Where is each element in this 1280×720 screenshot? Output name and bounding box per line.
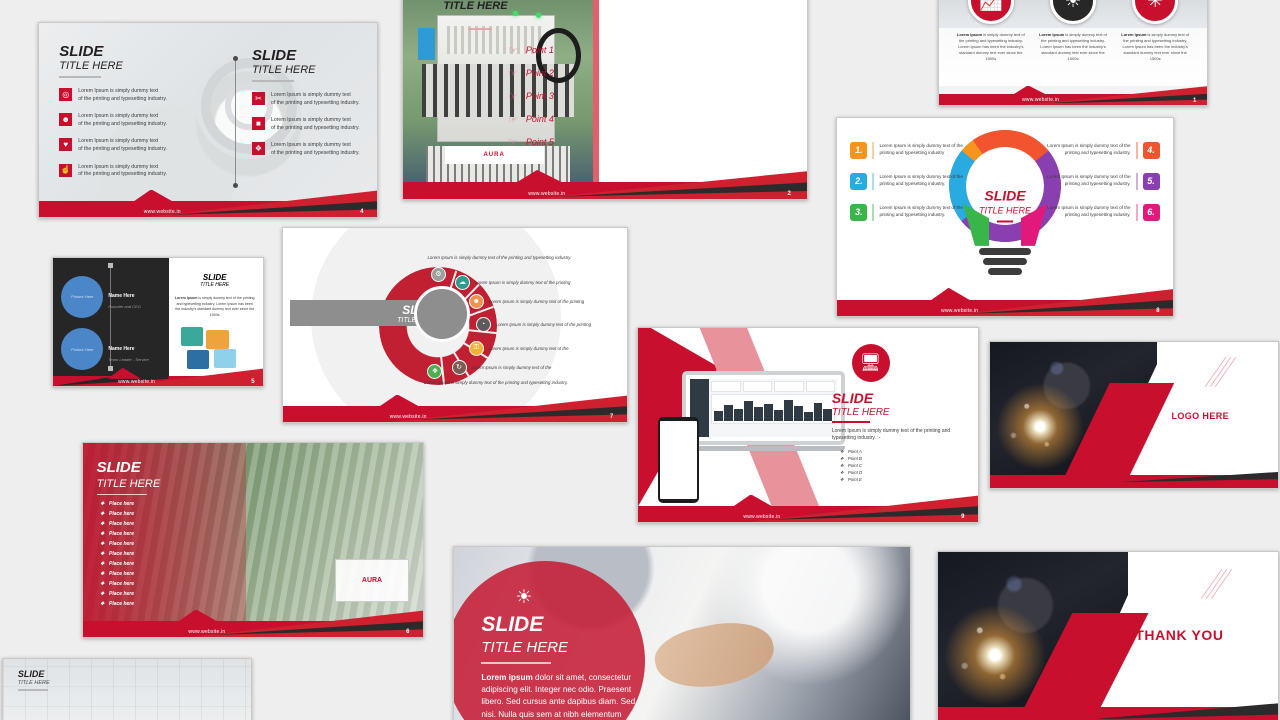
item-text: Lorem Ipsum is simply dummy text of the … bbox=[1035, 142, 1131, 157]
slide-thumbnail-4[interactable]: SLIDE TITLE HERE ◎ Lorem Ipsum is simply… bbox=[38, 22, 378, 218]
item-text: Lorem Ipsum is simply dummy text of the … bbox=[879, 173, 975, 188]
list-item[interactable]: Place here bbox=[100, 581, 134, 587]
slide5-body-text: Lorem Ipsum is simply dummy text of the … bbox=[175, 296, 255, 318]
list-item[interactable]: ☞ Point 1 bbox=[508, 44, 554, 57]
slide-thumbnail-partial[interactable]: SLIDE TITLE HERE 📈 ☀ ✳ bbox=[2, 658, 252, 720]
feature-block[interactable]: 📈 Lorem Ipsum is simply dummy text of th… bbox=[954, 0, 1028, 62]
title-rule bbox=[997, 221, 1013, 223]
list-item[interactable]: Point E bbox=[848, 477, 965, 482]
user-icon: ☻ bbox=[469, 294, 484, 309]
title-rule bbox=[468, 28, 492, 30]
title-rule bbox=[59, 76, 101, 78]
item-text: Lorem Ipsum is simply dummy text of the … bbox=[879, 204, 975, 219]
list-item-label: Point 3 bbox=[526, 91, 554, 101]
list-item-label: Point 2 bbox=[526, 68, 554, 78]
puzzle-illustration bbox=[179, 327, 255, 371]
list-item[interactable]: ☞ Point 3 bbox=[508, 90, 554, 103]
monitor-icon: 🖥 bbox=[852, 344, 890, 382]
lightbulb-icon: ☀ bbox=[515, 586, 641, 609]
share-icon: ❖ bbox=[252, 142, 265, 155]
page-title: SLIDE bbox=[175, 273, 255, 282]
page-title: SLIDE bbox=[59, 44, 208, 59]
tools-icon: ✂ bbox=[252, 92, 265, 105]
feature-block[interactable]: ☀ Lorem Ipsum is simply dummy text of th… bbox=[1036, 0, 1110, 62]
list-item[interactable]: Point A bbox=[848, 449, 965, 454]
list-item[interactable]: Place here bbox=[100, 601, 134, 607]
slide-thumbnail-thank-you[interactable]: THANK YOU bbox=[937, 551, 1279, 720]
slide2-machine-photo: AURA bbox=[403, 0, 593, 199]
numbered-item[interactable]: 5. Lorem Ipsum is simply dummy text of t… bbox=[1035, 173, 1160, 190]
radial-node-text: Lorem Ipsum is simply dummy text of the bbox=[472, 365, 552, 370]
slide-thumbnail-handshake[interactable]: ☀ SLIDE TITLE HERE Lorem ipsum dolor sit… bbox=[453, 546, 911, 720]
slide9-text-column: SLIDE TITLE HERE Lorem Ipsum is simply d… bbox=[832, 390, 965, 484]
page-title: SLIDE bbox=[18, 669, 50, 679]
page-subtitle: TITLE HERE bbox=[175, 282, 255, 288]
slide13-heading: SLIDE TITLE HERE bbox=[18, 669, 50, 691]
item-text: Lorem Ipsum is simply dummy text of the … bbox=[1035, 204, 1131, 219]
list-item[interactable]: ◎ Lorem Ipsum is simply dummy textof the… bbox=[59, 88, 208, 103]
heart-icon: ♥ bbox=[59, 138, 72, 151]
list-item-text: Lorem Ipsum is simply dummy textof the p… bbox=[271, 92, 360, 107]
hand-point-icon: ☞ bbox=[508, 136, 518, 149]
list-item[interactable]: Place here bbox=[100, 541, 134, 547]
slide-thumbnail-10[interactable]: LOGO HERE bbox=[989, 341, 1279, 489]
logo-placeholder: LOGO HERE bbox=[1171, 411, 1229, 421]
list-item-text: Lorem Ipsum is simply dummy textof the p… bbox=[271, 142, 360, 157]
item-number-badge: 4. bbox=[1143, 142, 1160, 159]
page-title: SLIDE bbox=[481, 613, 641, 637]
radial-center-hub bbox=[414, 286, 470, 342]
list-item-text: Lorem Ipsum is simply dummy textof the p… bbox=[271, 117, 360, 132]
numbered-item[interactable]: 1. Lorem Ipsum is simply dummy text of t… bbox=[850, 142, 975, 159]
list-item-label: Point 5 bbox=[526, 137, 554, 147]
radial-node[interactable]: ☁ Lorem Ipsum is simply dummy text of th… bbox=[455, 275, 570, 290]
slide-number: 7 bbox=[610, 414, 613, 420]
list-item[interactable]: Place here bbox=[100, 561, 134, 567]
page-subtitle: TITLE HERE bbox=[252, 65, 367, 76]
slide1-circle-row: 📈 Lorem Ipsum is simply dummy text of th… bbox=[950, 0, 1197, 62]
people-icon: ☻ bbox=[59, 113, 72, 126]
thumbs-up-icon: ☝ bbox=[59, 164, 72, 177]
list-item[interactable]: Point C bbox=[848, 463, 965, 468]
page-subtitle: TITLE HERE bbox=[59, 61, 208, 72]
page-subtitle: TITLE HERE bbox=[97, 478, 161, 490]
slide2-points-list: ☞ Point 1 ☞ Point 2 ☞ Point 3 ☞ Point 4 … bbox=[508, 44, 554, 159]
list-item[interactable]: Place here bbox=[100, 551, 134, 557]
avatar: Picture Here bbox=[61, 276, 103, 318]
page-title: SLIDE bbox=[97, 459, 161, 476]
item-text: Lorem Ipsum is simply dummy text of the … bbox=[879, 142, 975, 157]
slide-thumbnail-7[interactable]: SLIDE TITLE HERE Lorem Ipsum is simply d… bbox=[282, 227, 628, 423]
item-number-badge: 3. bbox=[850, 204, 867, 221]
hand-point-icon: ☞ bbox=[508, 67, 518, 80]
hand-point-icon: ☞ bbox=[508, 113, 518, 126]
list-item[interactable]: ■ Lorem Ipsum is simply dummy textof the… bbox=[252, 117, 367, 132]
team-member[interactable]: Picture Here Name Here Founder and CEO bbox=[61, 276, 140, 318]
machine-brand-label: AURA bbox=[335, 559, 410, 602]
list-item[interactable]: Place here bbox=[100, 591, 134, 597]
page-title: SLIDE bbox=[832, 390, 965, 406]
item-number-badge: 6. bbox=[1143, 204, 1160, 221]
network-hub-icon: ✳ bbox=[1132, 0, 1178, 24]
list-item[interactable]: Place here bbox=[100, 531, 134, 537]
factory-growth-icon: 📈 bbox=[968, 0, 1014, 24]
slide-thumbnail-8[interactable]: SLIDE TITLE HERE 1. Lorem Ipsum is simpl… bbox=[836, 117, 1174, 317]
slide4-left-column: SLIDE TITLE HERE ◎ Lorem Ipsum is simply… bbox=[59, 44, 208, 178]
share-icon: ❖ bbox=[427, 364, 442, 379]
slide-thumbnail-1[interactable]: 📈 Lorem Ipsum is simply dummy text of th… bbox=[938, 0, 1208, 106]
numbered-item[interactable]: 3. Lorem Ipsum is simply dummy text of t… bbox=[850, 204, 975, 221]
numbered-item[interactable]: 2. Lorem Ipsum is simply dummy text of t… bbox=[850, 173, 975, 190]
list-item[interactable]: Place here bbox=[100, 521, 134, 527]
list-item-text: Lorem Ipsum is simply dummy textof the p… bbox=[78, 164, 167, 179]
thank-you-text: THANK YOU bbox=[1135, 627, 1223, 643]
slide-thumbnail-9[interactable]: 🖥 SLIDE TITLE HERE Lorem Ipsum is simply… bbox=[637, 327, 979, 523]
bulb-base bbox=[979, 248, 1031, 278]
slide12-content: ☀ SLIDE TITLE HERE Lorem ipsum dolor sit… bbox=[481, 586, 641, 720]
slide-number: 9 bbox=[961, 514, 964, 520]
page-subtitle: TITLE HERE bbox=[832, 407, 965, 418]
feature-block[interactable]: ✳ Lorem Ipsum is simply dummy text of th… bbox=[1118, 0, 1192, 62]
title-rule bbox=[832, 421, 870, 423]
feature-caption: Lorem Ipsum is simply dummy text of the … bbox=[1118, 32, 1192, 62]
slide-footer: www.website.in 8 bbox=[837, 288, 1173, 316]
slide8-right-items: 4. Lorem Ipsum is simply dummy text of t… bbox=[1035, 142, 1160, 235]
list-item[interactable]: ♥ Lorem Ipsum is simply dummy textof the… bbox=[59, 138, 208, 153]
list-item[interactable]: ☞ Point 2 bbox=[508, 67, 554, 80]
numbered-item[interactable]: 6. Lorem Ipsum is simply dummy text of t… bbox=[1035, 204, 1160, 221]
numbered-item[interactable]: 4. Lorem Ipsum is simply dummy text of t… bbox=[1035, 142, 1160, 159]
slide9-body-text: Lorem Ipsum is simply dummy text of the … bbox=[832, 428, 965, 443]
list-item-text: Lorem Ipsum is simply dummy textof the p… bbox=[78, 88, 167, 103]
team-member-info: Name Here Founder and CEO bbox=[108, 284, 140, 309]
list-item[interactable]: Point B bbox=[848, 456, 965, 461]
hairline-decoration bbox=[1211, 566, 1251, 606]
list-item[interactable]: ✂ Lorem Ipsum is simply dummy textof the… bbox=[252, 92, 367, 107]
page-title: SLIDE bbox=[252, 48, 367, 63]
list-item[interactable]: ☞ Point 5 bbox=[508, 136, 554, 149]
cloud-icon: ☁ bbox=[455, 275, 470, 290]
radial-node-text: Lorem Ipsum is simply dummy text of the bbox=[489, 346, 569, 351]
radial-node[interactable]: ↻ Lorem Ipsum is simply dummy text of th… bbox=[452, 360, 552, 375]
slide6-heading: SLIDE TITLE HERE bbox=[97, 459, 161, 496]
radial-node[interactable]: ☻ Lorem Ipsum is simply dummy text of th… bbox=[469, 294, 584, 309]
slide-number: 8 bbox=[1156, 308, 1159, 314]
column-divider bbox=[235, 59, 236, 185]
laptop-mockup bbox=[682, 371, 845, 451]
feature-caption: Lorem Ipsum is simply dummy text of the … bbox=[1036, 32, 1110, 62]
page-subtitle: TITLE HERE bbox=[481, 639, 641, 656]
radial-node[interactable]: ❖ bbox=[427, 364, 442, 379]
slide7-bottom-text: Lorem Ipsum is simply dummy text of the … bbox=[424, 380, 568, 385]
slide5-heading: SLIDE TITLE HERE bbox=[175, 273, 255, 288]
footer-website: www.website.in bbox=[941, 308, 978, 314]
list-item-label: Point 4 bbox=[526, 114, 554, 124]
slide2-content-pane bbox=[593, 0, 807, 199]
list-item[interactable]: ☝ Lorem Ipsum is simply dummy textof the… bbox=[59, 164, 208, 179]
list-item[interactable]: Place here bbox=[100, 501, 134, 507]
hairline-decoration bbox=[1215, 354, 1255, 394]
slide-thumbnail-2[interactable]: AURA TITLE HERE ☞ Point 1 ☞ Point 2 ☞ Po… bbox=[402, 0, 808, 200]
hand-point-icon: ☞ bbox=[508, 44, 518, 57]
slide8-left-items: 1. Lorem Ipsum is simply dummy text of t… bbox=[850, 142, 975, 235]
list-item[interactable]: Place here bbox=[100, 571, 134, 577]
slide9-bullet-list: Point A Point B Point C Point D Point E bbox=[832, 449, 965, 482]
item-number-badge: 5. bbox=[1143, 173, 1160, 190]
list-item-label: Point 1 bbox=[526, 45, 554, 55]
team-member-role: Founder and CEO bbox=[108, 304, 140, 309]
slide6-place-list: Place here Place here Place here Place h… bbox=[100, 501, 134, 611]
list-item[interactable]: ☻ Lorem Ipsum is simply dummy textof the… bbox=[59, 113, 208, 128]
title-rule bbox=[97, 494, 147, 496]
hand-point-icon: ☞ bbox=[508, 90, 518, 103]
radial-node-text: Lorem Ipsum is simply dummy text of the … bbox=[489, 299, 584, 304]
title-rule bbox=[252, 80, 294, 82]
team-member-role: Team Leader - Service bbox=[108, 357, 148, 362]
item-number-badge: 2. bbox=[850, 173, 867, 190]
slide12-body-text: Lorem ipsum dolor sit amet, consectetur … bbox=[481, 672, 641, 720]
title-rule bbox=[18, 689, 48, 691]
radial-node-text: Lorem Ipsum is simply dummy text of the … bbox=[475, 280, 570, 285]
slide-deck-overview: SLIDE TITLE HERE ◎ Lorem Ipsum is simply… bbox=[0, 0, 1280, 720]
list-item[interactable]: ❖ Lorem Ipsum is simply dummy textof the… bbox=[252, 142, 367, 157]
radial-node[interactable]: ⚿ Lorem Ipsum is simply dummy text of th… bbox=[469, 341, 569, 356]
lightbulb-icon: ☀ bbox=[1050, 0, 1096, 24]
slide-thumbnail-6[interactable]: SLIDE TITLE HERE Place here Place here P… bbox=[82, 442, 424, 638]
target-icon: ◎ bbox=[59, 88, 72, 101]
item-text: Lorem Ipsum is simply dummy text of the … bbox=[1035, 173, 1131, 188]
slide4-left-heading: SLIDE TITLE HERE bbox=[59, 44, 208, 78]
title-rule bbox=[481, 662, 551, 664]
team-member-info: Name Here Team Leader - Service bbox=[108, 337, 148, 362]
list-item[interactable]: ☞ Point 4 bbox=[508, 113, 554, 126]
team-member-name: Name Here bbox=[108, 346, 134, 352]
radial-node[interactable]: ◔ Lorem Ipsum is simply dummy text of th… bbox=[476, 317, 591, 332]
slide4-right-column: SLIDE TITLE HERE ✂ Lorem Ipsum is simply… bbox=[252, 48, 367, 157]
refresh-icon: ↻ bbox=[452, 360, 467, 375]
slide4-right-heading: SLIDE TITLE HERE bbox=[252, 48, 367, 82]
slide-thumbnail-5[interactable]: Picture Here Name Here Founder and CEO P… bbox=[52, 257, 264, 387]
gear-icon: ⚙ bbox=[431, 267, 446, 282]
team-member-name: Name Here bbox=[108, 293, 134, 299]
accent-bar bbox=[593, 0, 599, 199]
feature-caption: Lorem Ipsum is simply dummy text of the … bbox=[954, 32, 1028, 62]
list-item[interactable]: Place here bbox=[100, 511, 134, 517]
phone-mockup bbox=[658, 417, 699, 502]
chart-icon: ◔ bbox=[476, 317, 491, 332]
team-member[interactable]: Picture Here Name Here Team Leader - Ser… bbox=[61, 328, 148, 370]
page-subtitle: TITLE HERE bbox=[18, 680, 50, 686]
radial-node[interactable]: ⚙ bbox=[431, 267, 446, 282]
stop-square-icon: ■ bbox=[252, 117, 265, 130]
radial-node-text: Lorem Ipsum is simply dummy text of the … bbox=[496, 322, 591, 327]
page-title: TITLE HERE bbox=[443, 1, 507, 12]
slide7-top-text: Lorem Ipsum is simply dummy text of the … bbox=[427, 255, 571, 260]
list-item-text: Lorem Ipsum is simply dummy textof the p… bbox=[78, 138, 167, 153]
list-item[interactable]: Point D bbox=[848, 470, 965, 475]
lock-icon: ⚿ bbox=[469, 341, 484, 356]
avatar: Picture Here bbox=[61, 328, 103, 370]
list-item-text: Lorem Ipsum is simply dummy textof the p… bbox=[78, 113, 167, 128]
item-number-badge: 1. bbox=[850, 142, 867, 159]
